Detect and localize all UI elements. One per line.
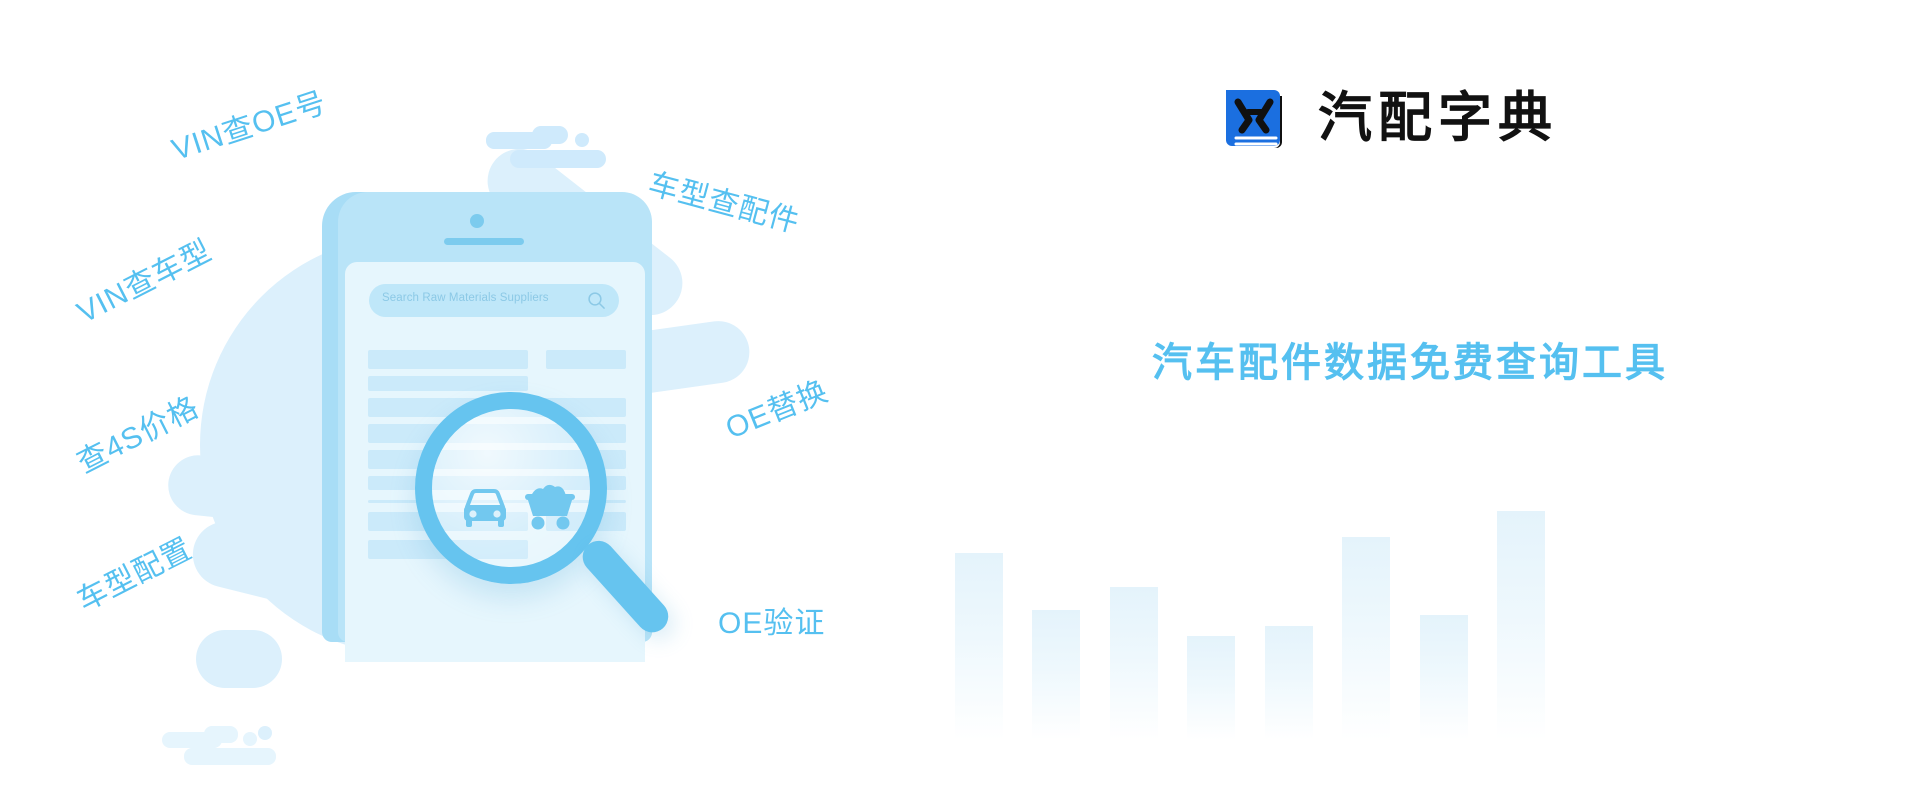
brand-name: 汽配字典 (1318, 91, 1558, 145)
chart-bar (1032, 610, 1080, 740)
blob-dot-bottom-left (196, 630, 282, 688)
content-row (368, 350, 528, 369)
search-icon[interactable] (587, 291, 606, 310)
content-row (368, 376, 528, 391)
chart-bar (1110, 587, 1158, 740)
chart-bar (955, 553, 1003, 740)
cloud-decoration-top (486, 126, 626, 178)
brand-lockup: 汽配字典 (1220, 82, 1558, 154)
content-row (546, 350, 626, 369)
phone-camera-dot (470, 214, 484, 228)
hero-illustration: Search Raw Materials Suppliers (0, 0, 900, 800)
search-input-placeholder: Search Raw Materials Suppliers (382, 292, 582, 304)
mining-cart-icon (521, 482, 579, 532)
chart-bar (1342, 537, 1390, 740)
feature-tag-vin-model[interactable]: VIN查车型 (68, 226, 218, 331)
chart-bar (1265, 626, 1313, 740)
feature-tag-vin-oe[interactable]: VIN查OE号 (165, 78, 331, 169)
chart-bar (1420, 615, 1468, 740)
brand-panel: 汽配字典 汽车配件数据免费查询工具 (900, 0, 1920, 800)
feature-tag-model-config[interactable]: 车型配置 (68, 524, 198, 619)
book-logo-icon (1220, 82, 1292, 154)
feature-tag-oe-verify[interactable]: OE验证 (718, 598, 825, 642)
phone-speaker-bar (444, 238, 524, 245)
feature-tag-model-parts[interactable]: 车型查配件 (644, 159, 805, 242)
cloud-decoration-bottom (162, 726, 292, 776)
page-root: Search Raw Materials Suppliers (0, 0, 1920, 800)
decorative-bar-chart (900, 400, 1920, 800)
chart-bar (1497, 511, 1545, 740)
feature-tag-oe-replace[interactable]: OE替换 (718, 366, 834, 447)
chart-bar (1187, 636, 1235, 740)
car-icon (459, 485, 511, 531)
tagline: 汽车配件数据免费查询工具 (900, 330, 1920, 388)
